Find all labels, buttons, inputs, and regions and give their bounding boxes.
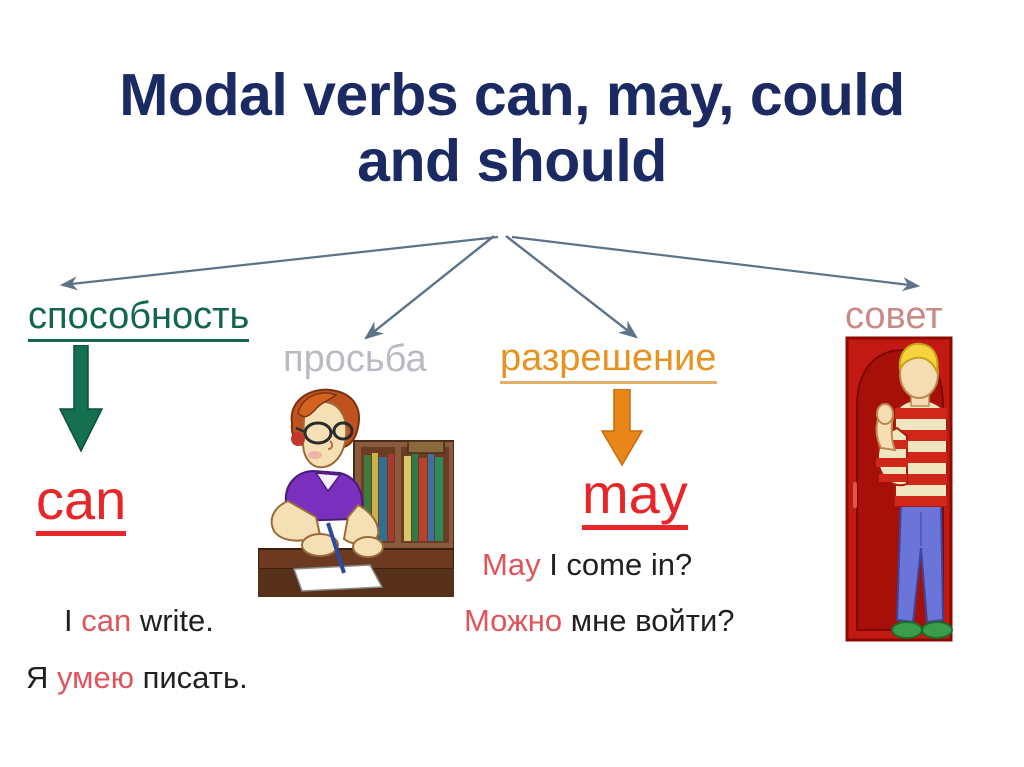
example-can-english-after: write. xyxy=(131,603,214,638)
right-hand xyxy=(353,537,383,557)
example-can-russian: Я умею писать. xyxy=(26,658,248,698)
ear xyxy=(291,432,305,446)
category-label-permission: разрешение xyxy=(500,339,717,384)
student-writing-clipart xyxy=(258,383,454,597)
cheek xyxy=(308,451,322,459)
page-title: Modal verbs can, may, could and should xyxy=(0,62,1024,194)
page-title-line-2: and should xyxy=(0,128,1024,194)
example-may-russian: Можно мне войти? xyxy=(464,601,735,641)
page-title-line-1: Modal verbs can, may, could xyxy=(119,62,904,128)
arrow-to-request xyxy=(366,236,494,338)
knocking-hand xyxy=(877,404,893,424)
category-label-request: просьба xyxy=(283,340,427,378)
arrow-to-advice xyxy=(512,237,918,286)
example-can-english: I can write. xyxy=(64,601,214,641)
example-can-russian-before: Я xyxy=(26,660,57,695)
example-may-english-after: I come in? xyxy=(541,547,693,582)
arrow-to-permission xyxy=(506,236,636,337)
example-can-english-before: I xyxy=(64,603,81,638)
modal-word-may: may xyxy=(582,466,688,530)
example-may-russian-after: мне войти? xyxy=(562,603,734,638)
category-label-ability: способность xyxy=(28,297,249,342)
example-may-english: May I come in? xyxy=(482,545,692,585)
slide-canvas: Modal verbs can, may, could and should с… xyxy=(0,0,1024,767)
example-can-english-highlight: can xyxy=(81,603,131,638)
left-shoe xyxy=(892,622,922,638)
example-can-russian-after: писать. xyxy=(134,660,248,695)
arrow-to-ability xyxy=(62,237,498,285)
door-handle-icon xyxy=(853,482,857,508)
boy-in-doorway-clipart xyxy=(845,336,1000,666)
example-can-russian-highlight: умею xyxy=(57,660,134,695)
down-arrow-ability-icon xyxy=(57,345,105,457)
modal-word-can: can xyxy=(36,472,126,536)
paper-icon xyxy=(294,565,382,591)
category-label-advice: совет xyxy=(845,297,943,335)
down-arrow-permission-icon xyxy=(600,389,644,469)
example-may-russian-highlight: Можно xyxy=(464,603,562,638)
example-may-english-highlight: May xyxy=(482,547,541,582)
right-shoe xyxy=(922,622,952,638)
